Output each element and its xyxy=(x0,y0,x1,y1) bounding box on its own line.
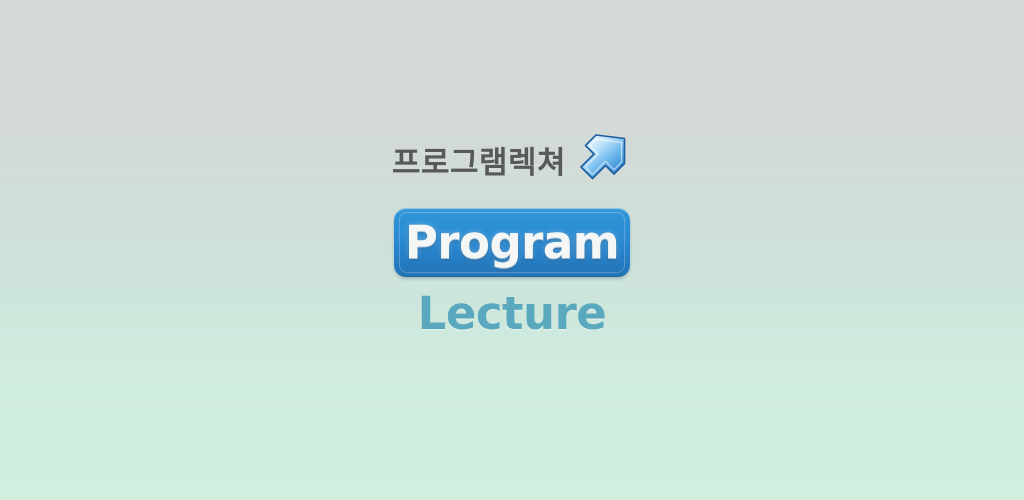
program-button-label: Program xyxy=(405,220,619,265)
lecture-wordmark: Lecture xyxy=(418,291,607,336)
arrow-down-left-icon xyxy=(576,134,632,190)
logo-block: 프로그램렉쳐 xyxy=(0,140,1024,336)
korean-subtitle: 프로그램렉쳐 xyxy=(392,140,566,186)
program-button[interactable]: Program xyxy=(394,208,630,277)
splash-screen: 프로그램렉쳐 xyxy=(0,0,1024,500)
korean-subtitle-row: 프로그램렉쳐 xyxy=(392,140,632,202)
